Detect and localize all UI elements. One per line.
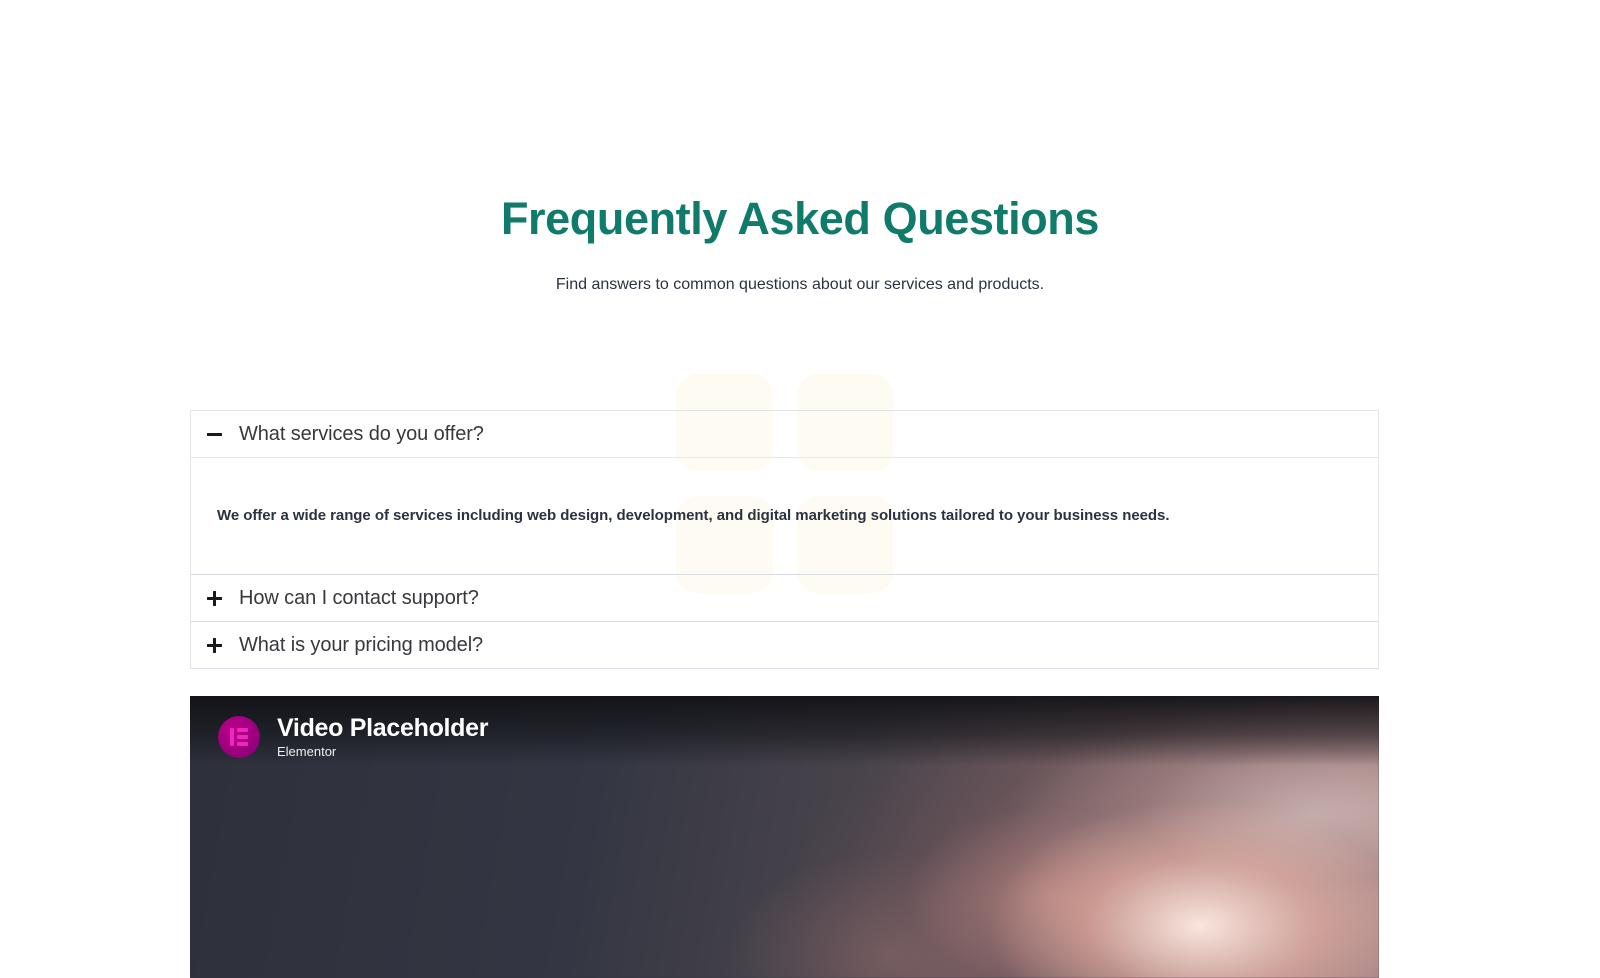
plus-icon[interactable] [207,638,222,653]
faq-panel-1: We offer a wide range of services includ… [191,457,1378,574]
video-channel-name: Elementor [277,744,488,760]
faq-question-2: How can I contact support? [239,586,479,610]
plus-icon[interactable] [207,591,222,606]
faq-question-3: What is your pricing model? [239,633,483,657]
faq-toggle-1[interactable]: What services do you offer? [191,411,1378,457]
video-title-group: Video Placeholder Elementor [277,714,488,760]
faq-question-1: What services do you offer? [239,422,484,446]
faq-item-1: What services do you offer? We offer a w… [191,411,1378,575]
faq-page: Frequently Asked Questions Find answers … [0,0,1600,978]
faq-answer-1: We offer a wide range of services includ… [217,505,1352,527]
video-placeholder[interactable]: Video Placeholder Elementor [190,696,1379,978]
faq-toggle-2[interactable]: How can I contact support? [191,575,1378,621]
elementor-glyph-bar [237,728,248,732]
page-title: Frequently Asked Questions [0,0,1600,246]
faq-item-2: How can I contact support? [191,575,1378,622]
video-info-bar: Video Placeholder Elementor [218,714,488,760]
elementor-glyph-bar [230,728,234,746]
faq-accordion: What services do you offer? We offer a w… [190,410,1379,669]
elementor-glyph [230,728,248,746]
elementor-glyph-bar [237,735,248,739]
page-subtitle: Find answers to common questions about o… [0,246,1600,296]
video-title: Video Placeholder [277,714,488,742]
faq-toggle-3[interactable]: What is your pricing model? [191,622,1378,668]
page-header: Frequently Asked Questions Find answers … [0,0,1600,296]
elementor-glyph-bar [237,742,248,746]
faq-item-3: What is your pricing model? [191,622,1378,669]
minus-icon[interactable] [207,427,222,442]
elementor-logo-icon [218,716,260,758]
